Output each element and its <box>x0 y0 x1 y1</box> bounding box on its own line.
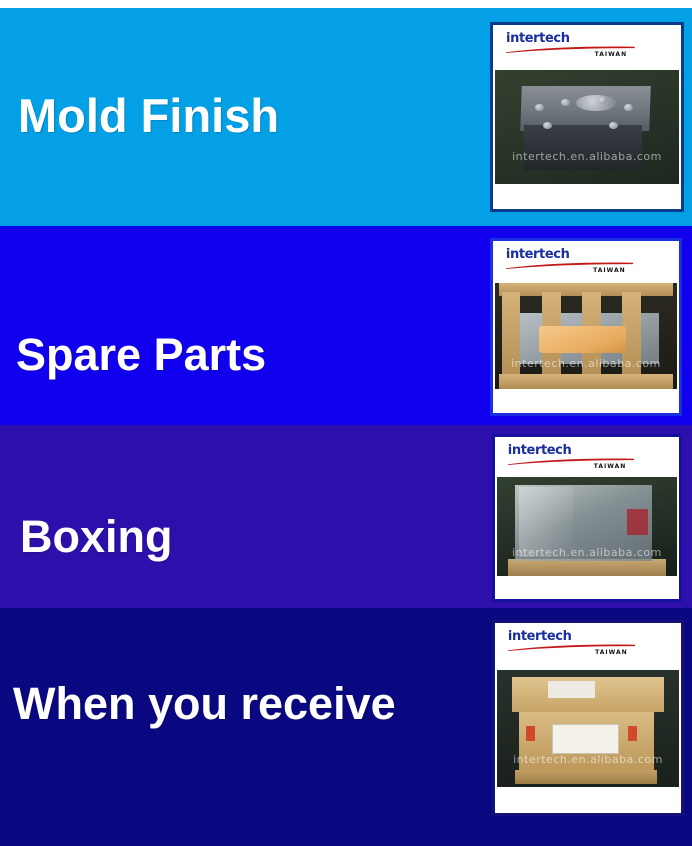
logo-swoosh-icon <box>506 262 633 269</box>
photo-scene-spare-parts: intertech.en.alibaba.com <box>495 283 677 389</box>
photo-scene-boxing: intertech.en.alibaba.com <box>497 477 677 577</box>
step-label-boxing: Boxing <box>20 511 173 563</box>
mold-body <box>524 125 642 170</box>
photo-inner-4: intertech.en.alibaba.com intertech TAIWA… <box>497 625 679 811</box>
photo-scene-mold: intertech.en.alibaba.com <box>495 70 679 183</box>
photo-footer-2 <box>495 389 677 411</box>
wooden-pallet <box>508 559 666 577</box>
crate-base <box>515 770 657 784</box>
plastic-sheen <box>519 487 573 557</box>
logo-strip-3: intertech TAIWAN <box>497 439 677 477</box>
step-label-mold-finish: Mold Finish <box>18 88 279 143</box>
fragile-marker-icon <box>628 726 637 741</box>
logo-strip-2: intertech TAIWAN <box>495 243 677 283</box>
logo-wordmark: intertech <box>506 32 635 45</box>
logo-swoosh-icon <box>508 458 634 465</box>
crate-plank <box>502 292 520 381</box>
step-photo-mold-finish: intertech.en.alibaba.com intertech TAIWA… <box>490 22 684 212</box>
step-photo-boxing: intertech.en.alibaba.com intertech TAIWA… <box>492 434 682 602</box>
photo-inner-1: intertech.en.alibaba.com intertech TAIWA… <box>495 27 679 207</box>
photo-inner-3: intertech.en.alibaba.com intertech TAIWA… <box>497 439 677 597</box>
intertech-logo: intertech TAIWAN <box>508 630 635 661</box>
step-label-when-you-receive: When you receive <box>13 678 396 730</box>
logo-wordmark: intertech <box>508 630 635 643</box>
mold-bolt <box>624 104 633 111</box>
red-marker-tag <box>627 509 649 535</box>
crate-lid-label <box>548 681 595 697</box>
fragile-marker-icon <box>526 726 535 741</box>
intertech-logo: intertech TAIWAN <box>508 444 634 471</box>
photo-inner-2: intertech.en.alibaba.com intertech TAIWA… <box>495 243 677 411</box>
photo-footer-1 <box>495 184 679 207</box>
logo-strip-4: intertech TAIWAN <box>497 625 679 670</box>
logo-wordmark: intertech <box>506 248 633 261</box>
step-photo-spare-parts: intertech.en.alibaba.com intertech TAIWA… <box>490 238 682 416</box>
logo-swoosh-icon <box>506 46 635 53</box>
photo-footer-3 <box>497 576 677 597</box>
intertech-logo: intertech TAIWAN <box>506 248 633 276</box>
logo-strip-1: intertech TAIWAN <box>495 27 679 70</box>
mold-bolt <box>561 99 570 106</box>
crate-plank <box>499 374 674 389</box>
photo-scene-crate: intertech.en.alibaba.com <box>497 670 679 787</box>
mold-sprue-disc <box>576 95 616 111</box>
logo-swoosh-icon <box>508 644 635 651</box>
step-photo-when-you-receive: intertech.en.alibaba.com intertech TAIWA… <box>492 620 684 816</box>
logo-wordmark: intertech <box>508 444 634 457</box>
spare-part-wrapped <box>539 326 626 354</box>
step-label-spare-parts: Spare Parts <box>16 329 266 381</box>
infographic-canvas: Mold Finish intertech.en.alibaba.com int… <box>0 0 692 846</box>
shipping-document-pouch <box>552 724 620 754</box>
intertech-logo: intertech TAIWAN <box>506 32 635 62</box>
photo-footer-4 <box>497 787 679 811</box>
